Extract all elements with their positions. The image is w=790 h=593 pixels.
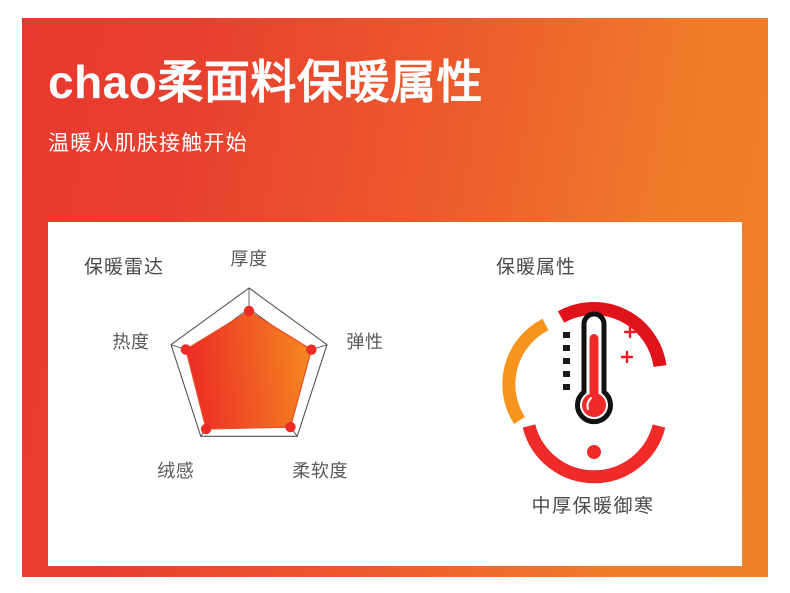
radar-svg: [48, 270, 444, 560]
header-block: chao柔面料保暖属性 温暖从肌肤接触开始: [48, 58, 708, 157]
thermometer-tick-3: [563, 371, 570, 377]
radar-point-3: [201, 424, 211, 434]
gauge-caption: 中厚保暖御寒: [444, 491, 742, 518]
radar-chart: 厚度弹性柔软度绒感热度: [48, 270, 444, 560]
radar-point-2: [285, 422, 295, 432]
gauge-svg: [444, 280, 742, 490]
thermometer-tick-0: [563, 332, 570, 338]
gauge-pane: 保暖属性: [444, 222, 742, 566]
page-subtitle: 温暖从肌肤接触开始: [48, 127, 708, 157]
thermometer-tick-2: [563, 358, 570, 364]
thermometer-bulb: [582, 393, 606, 417]
radar-axis-label-0: 厚度: [230, 245, 267, 271]
thermometer-mercury: [590, 334, 599, 400]
hot-arc-top: [561, 308, 660, 366]
heat-plus-marks: [622, 327, 635, 362]
page-title: chao柔面料保暖属性: [48, 58, 708, 108]
radar-point-4: [181, 344, 191, 354]
radar-axis-label-1: 弹性: [346, 328, 383, 354]
thermometer-tick-4: [563, 384, 570, 390]
radar-data-polygon: [186, 311, 312, 429]
thermometer-tick-1: [563, 345, 570, 351]
gauge-pane-title: 保暖属性: [496, 252, 576, 279]
thermometer-ticks: [563, 332, 570, 390]
radar-point-0: [244, 306, 254, 316]
warm-arc: [509, 325, 546, 421]
radar-axis-label-3: 绒感: [157, 457, 194, 483]
thermometer-gauge-icon: 中厚保暖御寒: [444, 280, 742, 510]
radar-pane: 保暖雷达 厚度弹性柔软度绒感热度: [48, 222, 444, 566]
radar-axis-label-4: 热度: [112, 328, 149, 354]
radar-point-1: [306, 345, 316, 355]
poster-canvas: chao柔面料保暖属性 温暖从肌肤接触开始 保暖雷达: [0, 0, 790, 593]
gauge-marker-dot: [587, 445, 601, 459]
content-panel: 保暖雷达 厚度弹性柔软度绒感热度: [48, 222, 742, 566]
radar-axis-label-2: 柔软度: [292, 457, 348, 483]
